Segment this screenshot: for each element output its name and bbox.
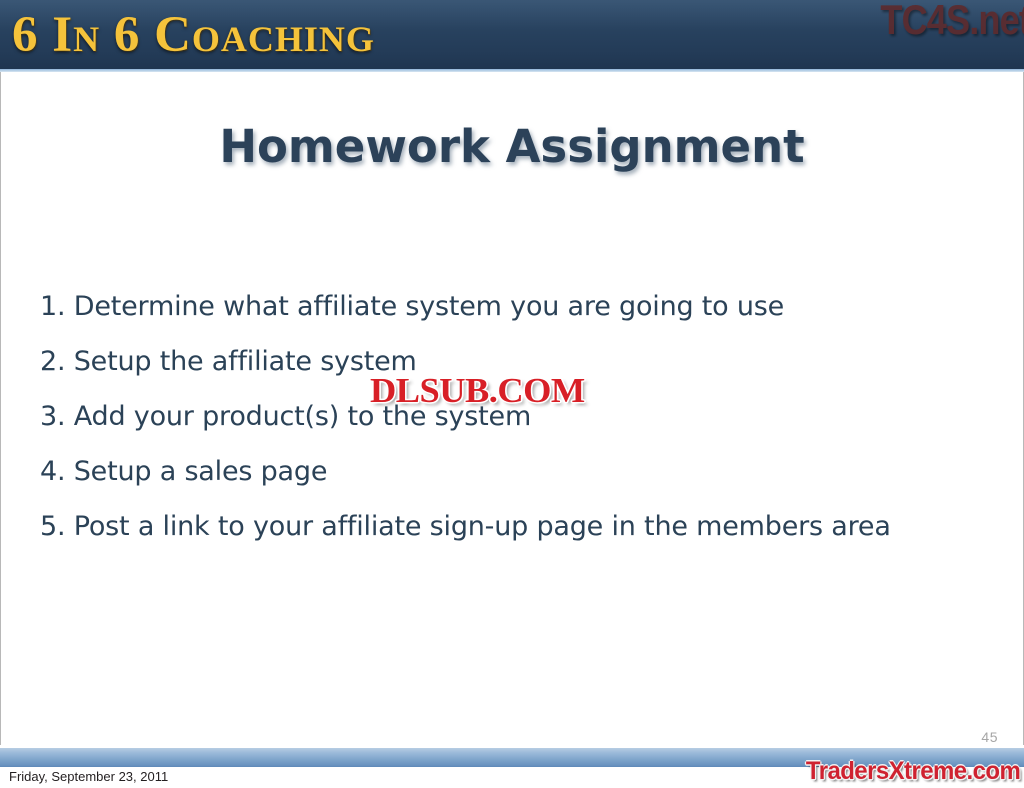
list-item: 1. Determine what affiliate system you a… xyxy=(40,279,990,334)
tc4s-site-logo: TC4S.net xyxy=(880,0,1024,44)
page-title: Homework Assignment xyxy=(1,120,1023,173)
list-item: 5. Post a link to your affiliate sign-up… xyxy=(40,499,990,554)
dlsub-watermark: DLSUB.COM xyxy=(370,371,585,411)
brand-title: 6 In 6 Coaching xyxy=(12,4,375,66)
homework-steps-list: 1. Determine what affiliate system you a… xyxy=(40,279,990,554)
slide-header-bar: 6 In 6 Coaching TC4S.net xyxy=(0,0,1024,69)
footer-date: Friday, September 23, 2011 xyxy=(9,769,168,784)
presentation-slide: 6 In 6 Coaching TC4S.net Homework Assign… xyxy=(0,0,1024,788)
slide-page-number: 45 xyxy=(981,729,998,745)
list-item: 4. Setup a sales page xyxy=(40,444,990,499)
tradersxtreme-logo: TradersXtreme.com xyxy=(806,757,1020,786)
